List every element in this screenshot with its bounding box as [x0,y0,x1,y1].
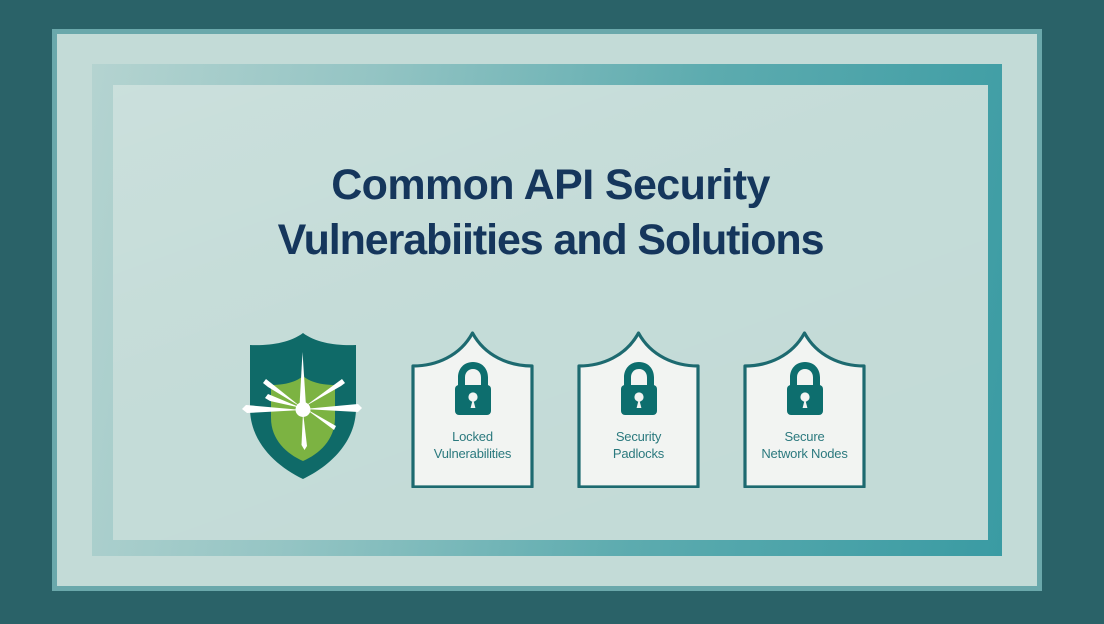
page-title-line-1: Common API Security [113,158,988,213]
card-caption: Security Padlocks [576,428,701,463]
card-locked-vulnerabilities[interactable]: Locked Vulnerabilities [404,330,541,488]
icon-row: Locked Vulnerabilities Security Padlocks [113,316,988,486]
page-title-line-2: Vulnerabiities and Solutions [113,213,988,268]
card-security-padlocks[interactable]: Security Padlocks [570,330,707,488]
card-caption-line-2: Padlocks [576,445,701,462]
card-caption: Secure Network Nodes [742,428,867,463]
card-caption-line-2: Network Nodes [742,445,867,462]
card-caption: Locked Vulnerabilities [410,428,535,463]
slide-canvas: Common API Security Vulnerabiities and S… [0,0,1104,624]
shield-sparkle-icon [238,330,368,482]
card-caption-line-1: Locked [410,428,535,445]
card-caption-line-1: Secure [742,428,867,445]
card-secure-network-nodes[interactable]: Secure Network Nodes [736,330,873,488]
padlock-icon [449,360,497,416]
padlock-icon [781,360,829,416]
padlock-icon [615,360,663,416]
page-title: Common API Security Vulnerabiities and S… [113,158,988,267]
card-caption-line-2: Vulnerabilities [410,445,535,462]
card-caption-line-1: Security [576,428,701,445]
